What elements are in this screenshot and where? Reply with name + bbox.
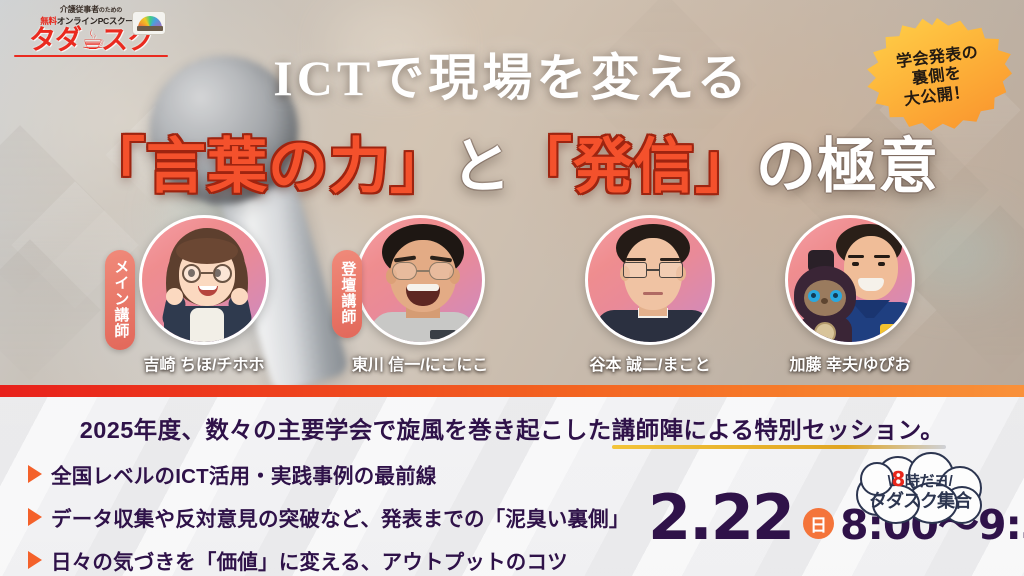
brand-logo[interactable]: 介護従事者のための 無料オンラインPCスクール タダ☕スク xyxy=(14,6,168,57)
webinar-banner: 介護従事者のための 無料オンラインPCスクール タダ☕スク ICTで現場を変える… xyxy=(0,0,1024,576)
list-item: 日々の気づきを「価値」に変える、アウトプットのコツ xyxy=(28,545,630,575)
speaker-card-4[interactable]: 加藤 幸夫/ゆぴお xyxy=(768,215,932,375)
bullet-text-1: 全国レベルのICT活用・実践事例の最前線 xyxy=(51,459,437,489)
bullet-text-2: データ収集や反対意見の突破など、発表までの「泥臭い裏側」 xyxy=(51,502,630,532)
title-emphasis-hasshin: 「発信」 xyxy=(512,134,756,200)
triangle-bullet-icon xyxy=(28,551,42,569)
speaker-name-3: 谷本 誠二/まこと xyxy=(568,351,732,375)
title-tail: の極意 xyxy=(756,134,939,200)
speaker-card-2[interactable]: 東川 信一/にこにこ xyxy=(338,215,502,375)
lede-highlight: 講師陣による特別セッション。 xyxy=(612,417,945,443)
triangle-bullet-icon xyxy=(28,465,42,483)
event-date: 2.22 xyxy=(648,493,793,544)
session-lede: 2025年度、数々の主要学会で旋風を巻き起こした講師陣による特別セッション。 xyxy=(0,411,1024,445)
speaker-card-1[interactable]: 吉崎 ちほ/チホホ xyxy=(122,215,286,375)
speaker-role-badge-2: 登壇講師 xyxy=(332,250,362,338)
rainbow-badge-icon xyxy=(132,11,166,35)
speaker-name-2: 東川 信一/にこにこ xyxy=(338,351,502,375)
title-conjunction: と xyxy=(451,134,512,200)
bullet-list: 全国レベルのICT活用・実践事例の最前線 データ収集や反対意見の突破など、発表ま… xyxy=(28,459,630,576)
speaker-avatar-3 xyxy=(585,215,715,345)
title-emphasis-kotoba: 「言葉の力」 xyxy=(85,134,451,200)
cloud-line-2: タダスク集合 xyxy=(869,492,971,510)
page-title-line2: 「言葉の力」と「発信」の極意 xyxy=(0,118,1024,205)
speaker-avatar-1 xyxy=(139,215,269,345)
coffee-cup-icon: ☕ xyxy=(81,27,101,54)
cloud-line-1: \8時だヨ/ xyxy=(888,469,953,489)
speaker-card-3[interactable]: 谷本 誠二/まこと xyxy=(568,215,732,375)
bullet-text-3: 日々の気づきを「価値」に変える、アウトプットのコツ xyxy=(51,545,568,575)
lede-plain: 2025年度、数々の主要学会で旋風を巻き起こした xyxy=(80,417,612,443)
speaker-role-badge-1: メイン講師 xyxy=(105,250,135,350)
list-item: 全国レベルのICT活用・実践事例の最前線 xyxy=(28,459,630,489)
speaker-name-4: 加藤 幸夫/ゆぴお xyxy=(768,351,932,375)
speaker-avatar-2 xyxy=(355,215,485,345)
day-of-week-badge: 日 xyxy=(803,508,834,539)
speaker-name-1: 吉崎 ちほ/チホホ xyxy=(122,351,286,375)
list-item: データ収集や反対意見の突破など、発表までの「泥臭い裏側」 xyxy=(28,502,630,532)
cloud-callout: \8時だヨ/ タダスク集合 xyxy=(854,452,986,526)
speaker-row: 吉崎 ちほ/チホホ メイン講師 東川 信一/にこにこ 登壇講師 xyxy=(0,215,1024,385)
triangle-bullet-icon xyxy=(28,508,42,526)
speaker-avatar-4 xyxy=(785,215,915,345)
section-divider xyxy=(0,385,1024,397)
